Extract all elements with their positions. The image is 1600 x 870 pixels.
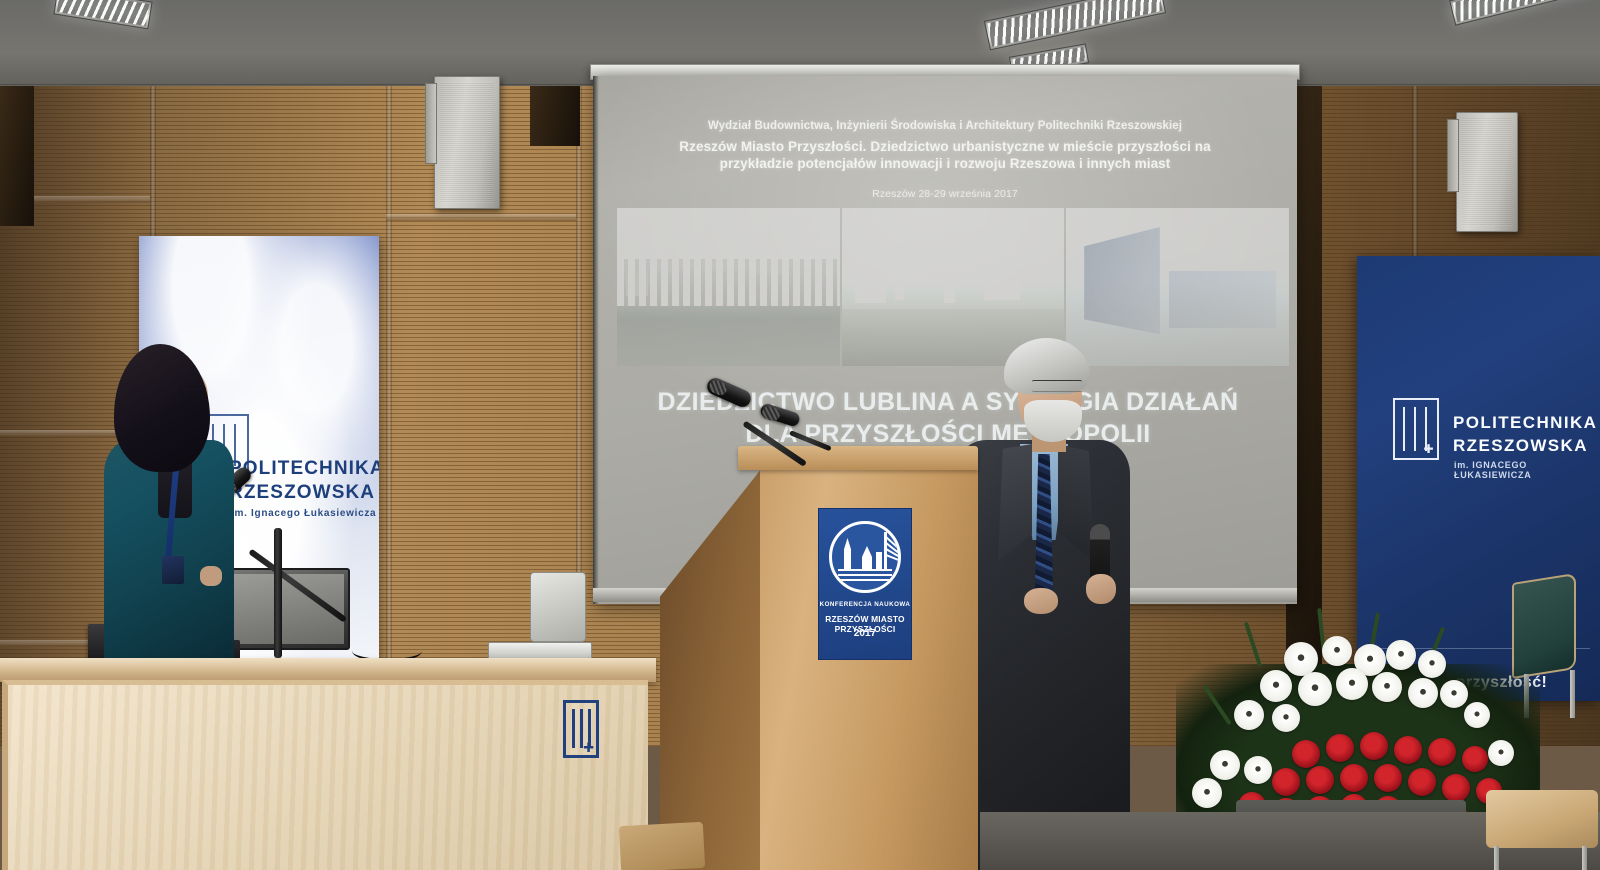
slide-place-date: Rzeszów 28-29 września 2017 <box>593 188 1297 200</box>
red-flower <box>1462 746 1488 772</box>
white-flower <box>1408 678 1438 708</box>
red-flower <box>1374 764 1402 792</box>
red-flower <box>1442 774 1470 802</box>
lectern-side <box>660 468 762 870</box>
white-flower <box>1272 704 1300 732</box>
politechnika-rzeszowska-mark-icon: ✚ <box>563 700 599 758</box>
wall-speaker-left <box>434 76 500 209</box>
red-flower <box>1326 734 1354 762</box>
speaker-bracket <box>1447 119 1459 192</box>
speaker-mesh <box>440 82 494 203</box>
chair <box>620 824 704 870</box>
presenter-hand <box>1024 588 1058 614</box>
red-flower <box>1292 740 1320 768</box>
woman-hair <box>114 344 210 472</box>
white-flower <box>1244 756 1272 784</box>
name-badge <box>162 556 184 584</box>
white-flower <box>1210 750 1240 780</box>
white-flower <box>1464 702 1490 728</box>
wall-dark-panel <box>530 86 580 146</box>
banner-right-line-2: RZESZOWSKA <box>1453 436 1588 456</box>
wall-speaker-right <box>1456 112 1518 232</box>
banner-left-line-3: im. Ignacego Łukasiewicza <box>231 508 379 519</box>
speaker-mesh <box>1462 118 1512 226</box>
slide-conference-line: Rzeszów Miasto Przyszłości. Dziedzictwo … <box>593 138 1297 172</box>
white-flower <box>1488 740 1514 766</box>
banner-left-line-2: RZESZOWSKA <box>229 482 379 504</box>
red-flower <box>1340 764 1368 792</box>
banner-left-line-1: POLITECHNIKA <box>229 458 379 480</box>
desk-top-surface <box>0 658 656 682</box>
conference-logo-panel: KONFERENCJA NAUKOWA RZESZÓW MIASTO PRZYS… <box>818 508 912 660</box>
rzeszow-bridge-emblem-icon <box>829 521 901 593</box>
white-flower <box>1372 672 1402 702</box>
glasses-icon <box>1032 380 1082 392</box>
chair-seat <box>619 822 705 870</box>
banner-right-line-1: POLITECHNIKA <box>1453 413 1597 433</box>
conference-photo-scene: Wydział Budownictwa, Inżynierii Środowis… <box>0 0 1600 870</box>
white-flower <box>1234 700 1264 730</box>
white-flower <box>1298 672 1332 706</box>
woman-hand <box>200 566 222 586</box>
slide-faculty-line: Wydział Budownictwa, Inżynierii Środowis… <box>593 120 1297 132</box>
microphone-stand-post <box>274 528 282 658</box>
speaker-bracket <box>425 83 437 164</box>
red-flower <box>1394 736 1422 764</box>
white-flower <box>1284 642 1318 676</box>
white-flower <box>1336 668 1368 700</box>
wall-seam <box>386 86 392 726</box>
white-flower <box>1418 650 1446 678</box>
white-flower <box>1260 670 1292 702</box>
lectern-logo-line-3: 2017 <box>819 628 911 639</box>
white-flower <box>1386 640 1416 670</box>
glasses-icon <box>180 386 206 396</box>
screen-left-edge <box>593 76 599 604</box>
slide-photo-1 <box>617 208 840 366</box>
red-flower <box>1306 766 1334 794</box>
red-flower <box>1428 738 1456 766</box>
white-flower <box>1192 778 1222 808</box>
cross-icon: ✚ <box>583 742 594 754</box>
white-flower <box>1322 636 1352 666</box>
document-camera[interactable] <box>530 572 586 642</box>
red-flower <box>1272 768 1300 796</box>
desk-front-panel <box>2 680 648 870</box>
front-desk <box>0 658 656 870</box>
wall-band <box>386 214 576 221</box>
chair-leg <box>1494 846 1499 870</box>
chair-leg <box>1570 670 1575 718</box>
white-flower <box>1440 680 1468 708</box>
red-flower <box>1360 732 1388 760</box>
presenter-hand <box>1086 574 1116 604</box>
chair-seat <box>1486 790 1598 848</box>
banner-right-line-3: im. IGNACEGO ŁUKASIEWICZA <box>1454 460 1600 480</box>
red-flower <box>1408 768 1436 796</box>
presenter-beard <box>1024 400 1082 442</box>
wall-dark-panel <box>0 86 34 226</box>
session-chair-woman <box>96 344 246 664</box>
chair-leg <box>1582 846 1587 870</box>
emblem-waves <box>838 569 892 583</box>
lectern-top <box>738 446 978 470</box>
chair <box>1486 790 1600 870</box>
wood-grain <box>8 685 648 870</box>
leaf-blade <box>1244 622 1262 667</box>
cross-icon: ✚ <box>1423 444 1434 455</box>
lectern-logo-line-1: KONFERENCJA NAUKOWA <box>819 601 911 608</box>
politechnika-rzeszowska-mark-icon: ✚ <box>1393 398 1439 460</box>
